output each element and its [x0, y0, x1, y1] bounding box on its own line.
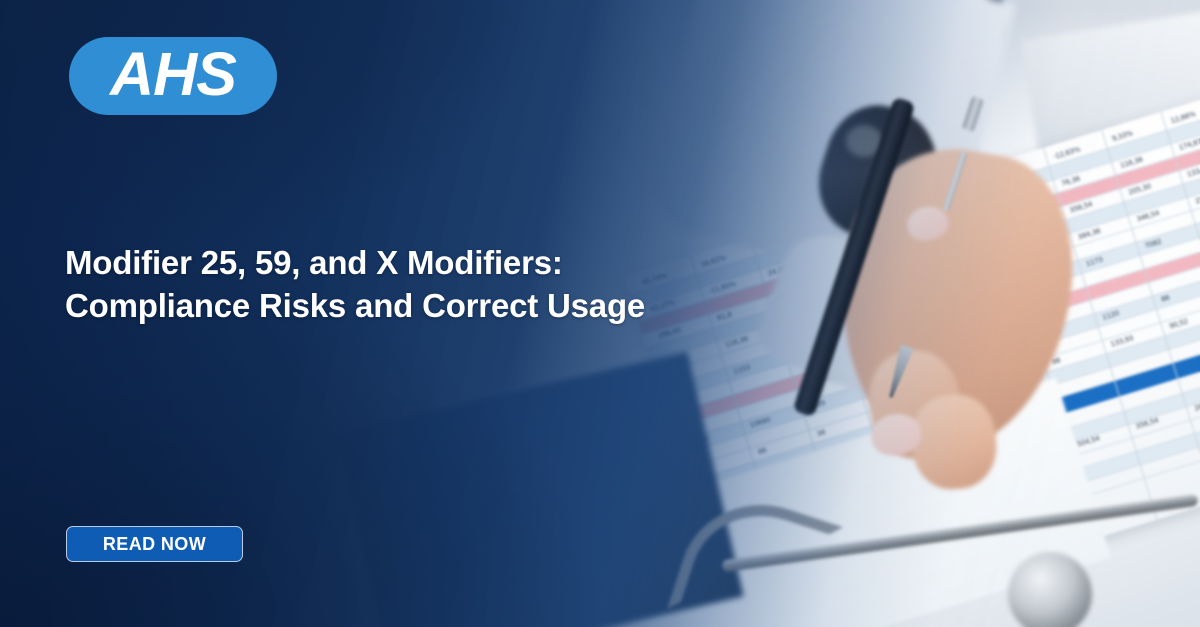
ahs-logo[interactable]: AHS	[69, 37, 277, 115]
banner-content: AHS Modifier 25, 59, and X Modifiers: Co…	[0, 0, 1200, 627]
read-now-button[interactable]: READ NOW	[66, 526, 243, 562]
page-title: Modifier 25, 59, and X Modifiers: Compli…	[65, 241, 705, 327]
headline-line-2: Compliance Risks and Correct Usage	[65, 284, 705, 327]
headline-line-1: Modifier 25, 59, and X Modifiers:	[65, 241, 705, 284]
read-now-button-label: READ NOW	[103, 534, 206, 555]
ahs-logo-text: AHS	[110, 44, 236, 109]
promo-banner: 45,74% 16,62% 5,52% 117,17 40,14 4,18% 1…	[0, 0, 1200, 627]
